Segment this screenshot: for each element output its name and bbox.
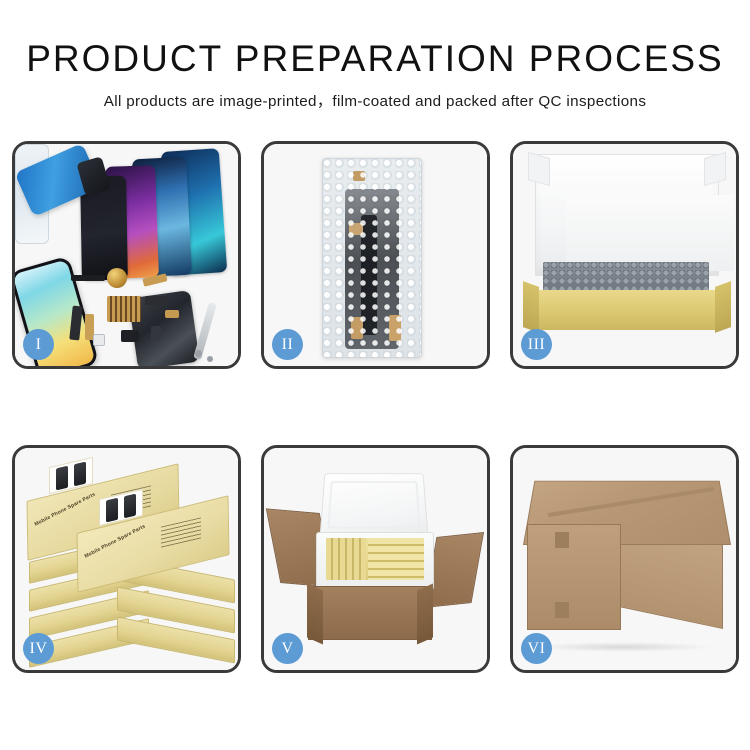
tape-tab-2 xyxy=(349,223,363,235)
step-panel-1: I xyxy=(12,141,241,369)
step-badge-2: II xyxy=(272,329,303,360)
foam-sheet xyxy=(566,195,734,271)
styrofoam-lid xyxy=(319,473,428,540)
label-phone-thumb-2 xyxy=(74,462,86,487)
kraft-boxes-inside xyxy=(326,538,424,580)
page-title: PRODUCT PREPARATION PROCESS xyxy=(0,38,750,80)
step-badge-3: III xyxy=(521,329,552,360)
sim-tray-icon xyxy=(93,334,105,346)
wrapped-part-strip xyxy=(361,215,377,335)
screw-2-icon xyxy=(207,356,213,362)
step-panel-5: V xyxy=(261,445,490,673)
carton-body xyxy=(308,586,432,640)
connector-icon xyxy=(151,326,161,340)
screw-1-icon xyxy=(195,350,202,357)
label-phone-thumb-4 xyxy=(124,494,136,519)
step-panel-2: II xyxy=(261,141,490,369)
page-subtitle: All products are image-printed，film-coat… xyxy=(0,89,750,111)
step-panel-6: VI xyxy=(510,445,739,673)
step-panel-3: III xyxy=(510,141,739,369)
carton-shadow xyxy=(533,642,713,652)
header: PRODUCT PREPARATION PROCESS All products… xyxy=(0,0,750,111)
step-panel-4: Mobile Phone Spare Parts Mobile Phone Sp… xyxy=(12,445,241,673)
step-badge-6: VI xyxy=(521,633,552,664)
sealed-carton-front xyxy=(527,524,621,630)
label-phone-thumb-1 xyxy=(56,466,68,491)
bubble-wrap-bag xyxy=(322,158,422,358)
step-badge-1: I xyxy=(23,329,54,360)
antenna-icon xyxy=(165,310,179,318)
kraft-box-body xyxy=(535,290,719,330)
process-step-grid: I II xyxy=(12,141,740,673)
camera-module-icon xyxy=(145,296,167,305)
bubble-padding xyxy=(543,262,709,292)
carton-tape-top xyxy=(555,532,569,548)
label-phone-thumb-3 xyxy=(106,498,118,523)
product-preparation-infographic: PRODUCT PREPARATION PROCESS All products… xyxy=(0,0,750,750)
tape-tab-4 xyxy=(389,315,401,341)
carton-tape-bottom xyxy=(555,602,569,618)
vibrator-module-icon xyxy=(121,330,139,342)
tape-tab-3 xyxy=(351,317,363,339)
logic-board-icon xyxy=(107,296,141,322)
step-badge-5: V xyxy=(272,633,303,664)
flex-cable-1-icon xyxy=(71,275,105,281)
step-badge-4: IV xyxy=(23,633,54,664)
tape-tab-1 xyxy=(353,171,365,181)
foam-lid xyxy=(535,154,719,276)
speaker-module-icon xyxy=(107,268,127,288)
